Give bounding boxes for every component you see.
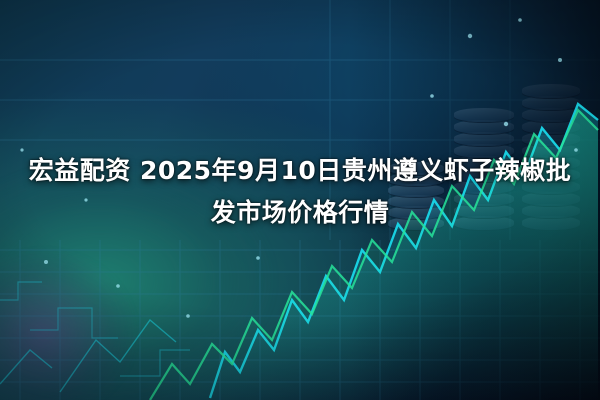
brand-label: 宏益配资 xyxy=(29,156,131,185)
title-spacer xyxy=(131,156,140,185)
image-canvas: 宏益配资 2025年9月10日贵州遵义虾子辣椒批发市场价格行情 xyxy=(0,0,600,400)
title-text: 2025年9月10日贵州遵义虾子辣椒批发市场价格行情 xyxy=(140,156,571,227)
page-title: 宏益配资 2025年9月10日贵州遵义虾子辣椒批发市场价格行情 xyxy=(0,150,600,234)
